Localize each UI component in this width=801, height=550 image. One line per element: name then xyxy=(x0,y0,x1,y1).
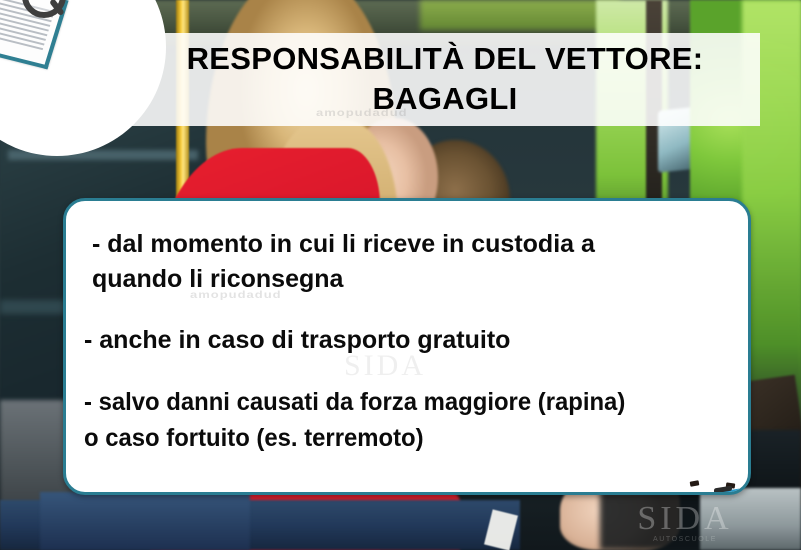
bullet-item-2: - anche in caso di trasporto gratuito xyxy=(84,323,730,358)
magnifier-icon xyxy=(22,0,62,14)
slide: SIDA AUTOSCUOLE 22041 22041 RESPONSABILI… xyxy=(0,0,801,550)
title-band: RESPONSABILITÀ DEL VETTORE: BAGAGLI amop… xyxy=(130,33,760,126)
content-card: - dal momento in cui li riceve in custod… xyxy=(63,198,751,495)
luggage-illustration xyxy=(656,477,751,495)
bus-seat-right xyxy=(700,488,801,550)
page-title: RESPONSABILITÀ DEL VETTORE: BAGAGLI xyxy=(130,33,760,119)
bullet-item-1: - dal momento in cui li riceve in custod… xyxy=(92,227,730,297)
ceiling-green-glow xyxy=(420,0,620,30)
luggage-tag-1 xyxy=(690,480,700,486)
passenger-woman-jeans-pocket xyxy=(40,492,250,550)
blue-suitcase-handle xyxy=(714,486,732,494)
content-card-body: - dal momento in cui li riceve in custod… xyxy=(66,201,748,492)
bullet-item-3: - salvo danni causati da forza maggiore … xyxy=(84,384,701,456)
